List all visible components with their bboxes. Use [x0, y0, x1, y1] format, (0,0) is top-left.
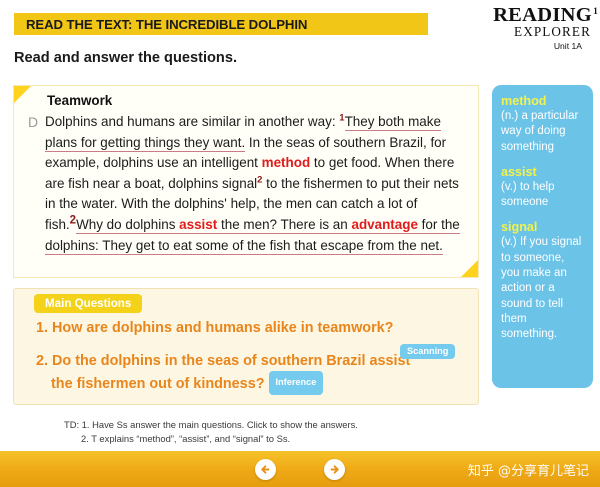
skill-badge-scanning-wrap: Scanning — [400, 344, 455, 362]
question-number-1: 1. — [36, 320, 48, 336]
keyword-assist: assist — [179, 217, 217, 234]
previous-slide-button[interactable] — [255, 459, 276, 480]
paragraph-label: D — [28, 114, 38, 130]
passage-segment: Dolphins and humans are similar in anoth… — [45, 114, 339, 129]
question-text-1: How are dolphins and humans alike in tea… — [52, 320, 393, 336]
watermark: 知乎 @分享育儿笔记 — [468, 460, 589, 479]
vocab-definition-method: (n.) a particular way of doing something — [501, 109, 585, 155]
brand-logo: READING1 EXPLORER Unit 1A — [470, 6, 592, 52]
brand-name: READING1 — [470, 6, 592, 25]
reading-passage-card: Teamwork D Dolphins and humans are simil… — [13, 85, 479, 278]
teacher-note-line-2: 2. T explains “method”, “assist”, and “s… — [64, 432, 358, 446]
arrow-left-icon — [258, 462, 273, 477]
question-text-2-line-2-wrap: the fishermen out of kindness? Inference — [36, 372, 468, 397]
page-title: READ THE TEXT: THE INCREDIBLE DOLPHIN — [26, 14, 426, 35]
passage-segment-underlined: Why do dolphins — [76, 217, 179, 234]
question-text-2-line-1: Do the dolphins in the seas of southern … — [52, 353, 410, 369]
skill-badge-scanning[interactable]: Scanning — [400, 344, 455, 359]
vocab-term-assist: assist — [501, 164, 585, 180]
keyword-method: method — [262, 155, 311, 170]
passage-segment-underlined: the men? There is an — [217, 217, 351, 234]
corner-triangle-bottom-right-icon — [461, 260, 478, 277]
brand-name-text: READING — [493, 4, 592, 26]
passage-body: Dolphins and humans are similar in anoth… — [45, 112, 469, 256]
skill-badge-inference[interactable]: Inference — [269, 371, 324, 396]
vocab-definition-assist: (v.) to help someone — [501, 180, 585, 211]
question-text-2-line-2: the fishermen out of kindness? — [51, 376, 265, 392]
keyword-advantage: advantage — [351, 217, 417, 234]
vocabulary-panel: method (n.) a particular way of doing so… — [492, 85, 593, 388]
vocab-definition-signal: (v.) If you signal to someone, you make … — [501, 235, 585, 342]
next-slide-button[interactable] — [324, 459, 345, 480]
teacher-notes: TD: 1. Have Ss answer the main questions… — [64, 418, 358, 445]
vocab-term-signal: signal — [501, 219, 585, 235]
bottom-navigation-bar: 知乎 @分享育儿笔记 — [0, 451, 600, 487]
main-questions-badge: Main Questions — [34, 294, 142, 313]
arrow-right-icon — [327, 462, 342, 477]
brand-superscript: 1 — [593, 2, 598, 21]
corner-triangle-top-left-icon — [14, 86, 31, 103]
passage-heading: Teamwork — [47, 93, 112, 108]
brand-unit-label: Unit 1A — [470, 40, 582, 52]
vocab-term-method: method — [501, 93, 585, 109]
question-number-2: 2. — [36, 353, 48, 369]
footnote-marker-1: 1 — [339, 113, 344, 124]
brand-subtitle: EXPLORER — [470, 25, 591, 39]
question-item-1: 1. How are dolphins and humans alike in … — [36, 319, 468, 339]
instruction-text: Read and answer the questions. — [14, 50, 237, 66]
teacher-note-line-1: TD: 1. Have Ss answer the main questions… — [64, 419, 358, 430]
